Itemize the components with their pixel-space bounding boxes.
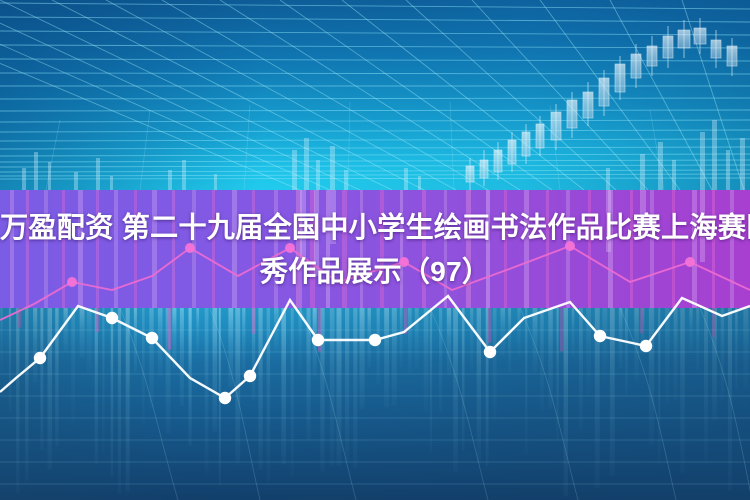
background-art (0, 0, 750, 500)
poster-canvas: 万盈配资 第二十九届全国中小学生绘画书法作品比赛上海赛区优 秀作品展示（97） (0, 0, 750, 500)
